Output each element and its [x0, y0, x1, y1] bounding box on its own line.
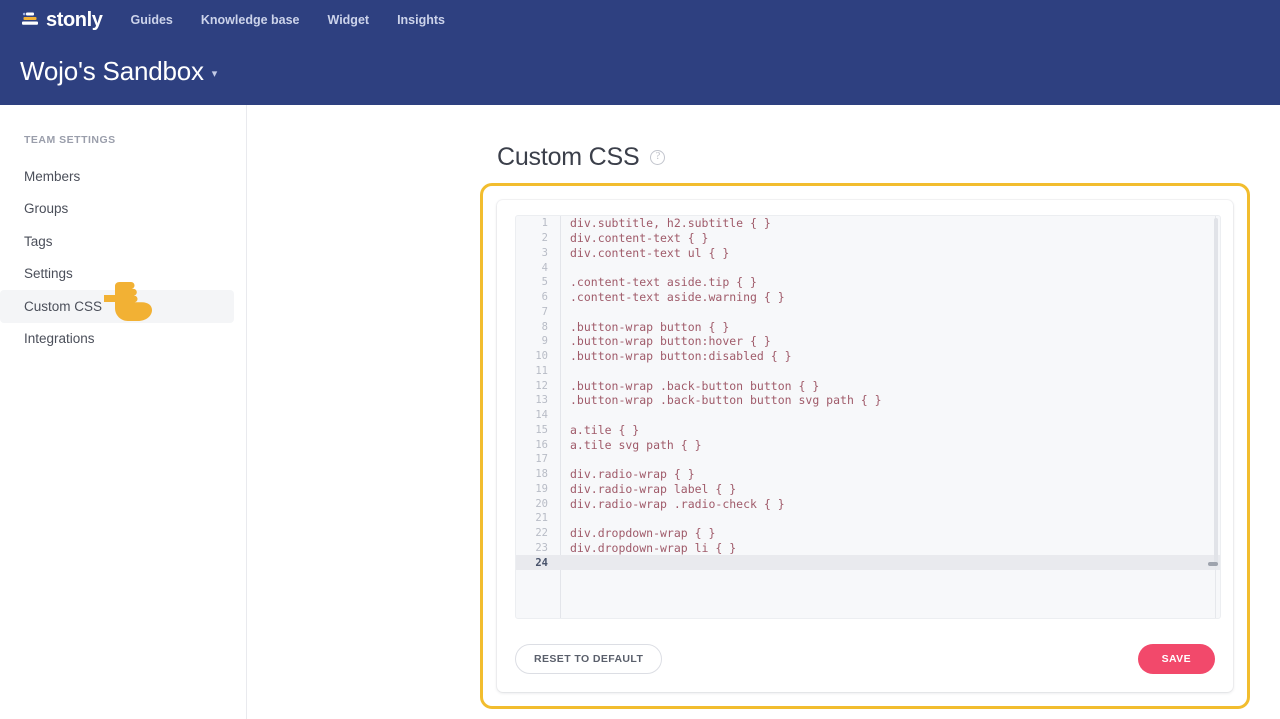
css-code-editor[interactable]: 1div.subtitle, h2.subtitle { } 2div.cont… [515, 215, 1221, 619]
line-source: div.dropdown-wrap { } [554, 526, 715, 540]
line-number: 14 [516, 409, 554, 421]
sidebar-item-members[interactable]: Members [0, 160, 234, 193]
help-icon[interactable]: ? [650, 150, 665, 165]
code-line[interactable]: 7 [516, 305, 1220, 320]
sidebar-item-label: Custom CSS [24, 299, 102, 314]
line-number: 15 [516, 424, 554, 436]
line-source: div.radio-wrap { } [554, 467, 695, 481]
stonly-logo-icon [20, 10, 40, 30]
code-line[interactable]: 18div.radio-wrap { } [516, 467, 1220, 482]
line-source: .content-text aside.warning { } [554, 290, 785, 304]
line-number: 4 [516, 262, 554, 274]
sidebar-item-tags[interactable]: Tags [0, 225, 234, 258]
nav-link-knowledge-base[interactable]: Knowledge base [201, 13, 300, 27]
line-number: 18 [516, 468, 554, 480]
line-number: 21 [516, 512, 554, 524]
line-source: div.radio-wrap label { } [554, 482, 736, 496]
workspace-switcher[interactable]: Wojo's Sandbox ▾ [20, 56, 217, 87]
code-line[interactable]: 4 [516, 260, 1220, 275]
workspace-name: Wojo's Sandbox [20, 56, 204, 87]
code-line[interactable]: 22div.dropdown-wrap { } [516, 526, 1220, 541]
editor-vertical-scrollbar-thumb[interactable] [1214, 218, 1218, 564]
line-number: 17 [516, 453, 554, 465]
code-line[interactable]: 19div.radio-wrap label { } [516, 482, 1220, 497]
code-line[interactable]: 9.button-wrap button:hover { } [516, 334, 1220, 349]
nav-link-guides[interactable]: Guides [131, 13, 173, 27]
line-number: 6 [516, 291, 554, 303]
code-line[interactable]: 15a.tile { } [516, 423, 1220, 438]
line-number: 3 [516, 247, 554, 259]
brand-name: stonly [46, 10, 103, 30]
code-line[interactable]: 5.content-text aside.tip { } [516, 275, 1220, 290]
line-number: 16 [516, 439, 554, 451]
line-source: div.radio-wrap .radio-check { } [554, 497, 785, 511]
custom-css-panel: 1div.subtitle, h2.subtitle { } 2div.cont… [497, 200, 1233, 692]
sidebar-item-custom-css[interactable]: Custom CSS [0, 290, 234, 323]
code-line[interactable]: 14 [516, 408, 1220, 423]
nav-link-insights[interactable]: Insights [397, 13, 445, 27]
sidebar-item-label: Groups [24, 201, 68, 216]
chevron-down-icon: ▾ [212, 69, 218, 80]
line-number: 22 [516, 527, 554, 539]
code-line[interactable]: 13.button-wrap .back-button button svg p… [516, 393, 1220, 408]
code-line[interactable]: 17 [516, 452, 1220, 467]
top-navigation-bar: stonly Guides Knowledge base Widget Insi… [0, 0, 1280, 105]
line-number: 10 [516, 350, 554, 362]
line-source: div.content-text { } [554, 231, 708, 245]
code-line[interactable]: 10.button-wrap button:disabled { } [516, 349, 1220, 364]
line-number: 9 [516, 335, 554, 347]
line-source: a.tile { } [554, 423, 639, 437]
primary-nav-row: stonly Guides Knowledge base Widget Insi… [0, 0, 1280, 40]
line-number: 1 [516, 217, 554, 229]
line-number: 11 [516, 365, 554, 377]
code-line[interactable]: 8.button-wrap button { } [516, 319, 1220, 334]
line-source: .button-wrap .back-button button svg pat… [554, 393, 882, 407]
page-title-row: Custom CSS ? [497, 143, 665, 172]
code-line[interactable]: 20div.radio-wrap .radio-check { } [516, 496, 1220, 511]
line-source: .button-wrap .back-button button { } [554, 379, 819, 393]
line-number: 5 [516, 276, 554, 288]
sidebar-item-list: Members Groups Tags Settings Custom CSS … [0, 160, 246, 355]
line-number: 19 [516, 483, 554, 495]
code-line[interactable]: 16a.tile svg path { } [516, 437, 1220, 452]
line-source: div.dropdown-wrap li { } [554, 541, 736, 555]
line-number: 7 [516, 306, 554, 318]
line-number: 2 [516, 232, 554, 244]
sidebar-item-label: Settings [24, 266, 73, 281]
reset-to-default-button[interactable]: RESET TO DEFAULT [515, 644, 662, 674]
line-number: 12 [516, 380, 554, 392]
line-number: 13 [516, 394, 554, 406]
line-source: .button-wrap button { } [554, 320, 729, 334]
sidebar-heading: TEAM SETTINGS [24, 134, 116, 146]
code-line[interactable]: 3div.content-text ul { } [516, 246, 1220, 261]
nav-links: Guides Knowledge base Widget Insights [131, 13, 445, 27]
panel-action-row: RESET TO DEFAULT SAVE [515, 644, 1215, 674]
main-content: Custom CSS ? 1div.subtitle, h2.subtitle … [247, 105, 1280, 719]
settings-sidebar: TEAM SETTINGS Members Groups Tags Settin… [0, 105, 247, 719]
nav-link-widget[interactable]: Widget [328, 13, 370, 27]
sidebar-item-settings[interactable]: Settings [0, 258, 234, 291]
brand-logo[interactable]: stonly [20, 10, 103, 30]
line-number: 23 [516, 542, 554, 554]
line-number: 24 [516, 557, 554, 569]
code-line[interactable]: 6.content-text aside.warning { } [516, 290, 1220, 305]
sidebar-item-groups[interactable]: Groups [0, 193, 234, 226]
sidebar-item-label: Members [24, 169, 80, 184]
sidebar-item-integrations[interactable]: Integrations [0, 323, 234, 356]
line-source: .button-wrap button:hover { } [554, 334, 771, 348]
code-line-active[interactable]: 24 [516, 555, 1220, 570]
page-title: Custom CSS [497, 143, 639, 172]
line-source: .button-wrap button:disabled { } [554, 349, 792, 363]
code-line[interactable]: 12.button-wrap .back-button button { } [516, 378, 1220, 393]
code-line[interactable]: 23div.dropdown-wrap li { } [516, 541, 1220, 556]
editor-horizontal-scrollbar-thumb[interactable] [1208, 562, 1218, 566]
sidebar-item-label: Integrations [24, 331, 95, 346]
code-line[interactable]: 1div.subtitle, h2.subtitle { } [516, 216, 1220, 231]
code-scroll-area[interactable]: 1div.subtitle, h2.subtitle { } 2div.cont… [516, 216, 1220, 618]
code-line[interactable]: 11 [516, 364, 1220, 379]
line-source: a.tile svg path { } [554, 438, 702, 452]
line-source: div.content-text ul { } [554, 246, 729, 260]
sidebar-item-label: Tags [24, 234, 53, 249]
line-number: 20 [516, 498, 554, 510]
code-line[interactable]: 21 [516, 511, 1220, 526]
line-source: div.subtitle, h2.subtitle { } [554, 216, 771, 230]
code-line[interactable]: 2div.content-text { } [516, 231, 1220, 246]
line-number: 8 [516, 321, 554, 333]
line-source: .content-text aside.tip { } [554, 275, 757, 289]
save-button[interactable]: SAVE [1138, 644, 1215, 674]
